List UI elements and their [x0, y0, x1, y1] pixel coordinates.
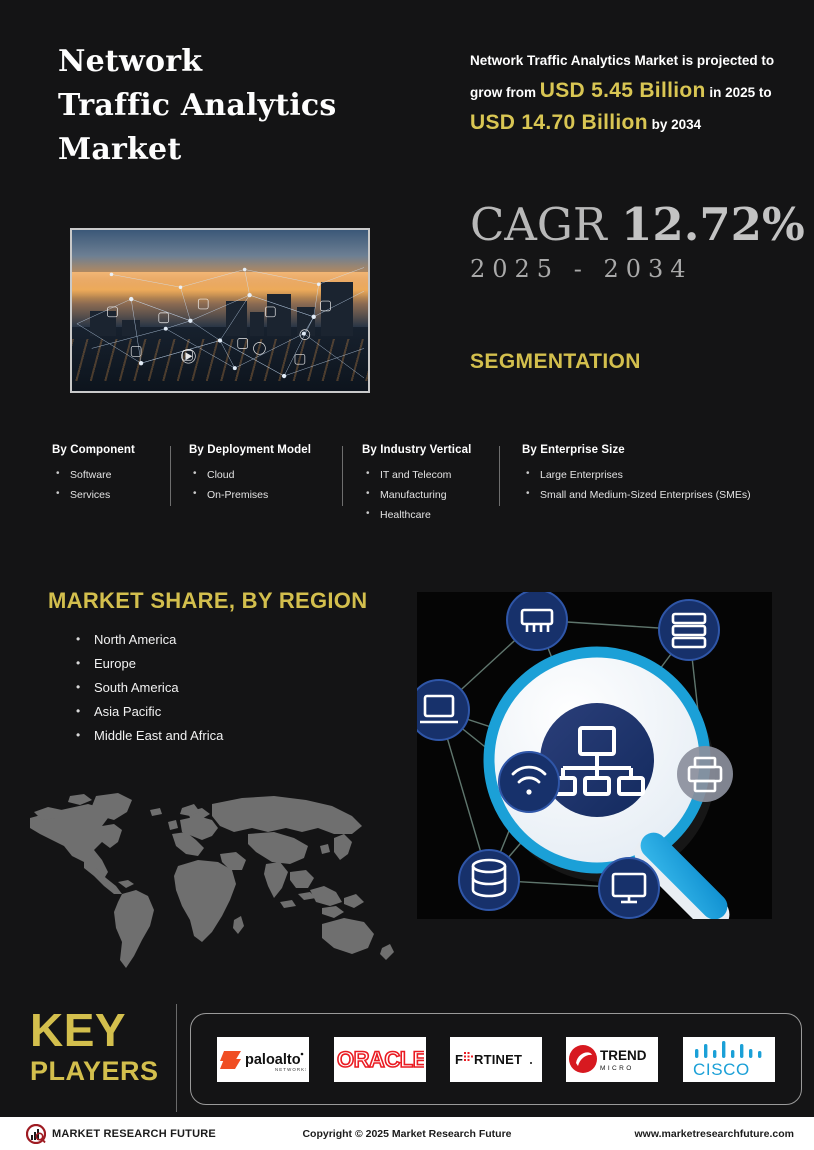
key-word: KEY: [30, 1006, 170, 1054]
projection-lead: Network Traffic Analytics Market is proj…: [470, 53, 774, 68]
region-item: South America: [72, 676, 223, 700]
segment-list: IT and Telecom Manufacturing Healthcare: [362, 465, 471, 525]
segment-column-industry: By Industry Vertical IT and Telecom Manu…: [362, 444, 471, 525]
segment-heading: By Enterprise Size: [522, 444, 751, 456]
oracle-logo[interactable]: ORACLE: [334, 1037, 426, 1082]
svg-text:TREND: TREND: [600, 1048, 647, 1063]
svg-text:NETWORKS: NETWORKS: [275, 1067, 306, 1072]
region-item: Middle East and Africa: [72, 724, 223, 748]
segment-divider: [342, 446, 343, 506]
key-players-logo-container: paloalto NETWORKS ORACLE F RTINET: [190, 1013, 802, 1105]
segment-item: Healthcare: [362, 505, 471, 525]
segment-column-deployment: By Deployment Model Cloud On-Premises: [189, 444, 311, 505]
page-title: Network Traffic Analytics Market: [58, 40, 438, 172]
projection-grow-from: grow from: [470, 85, 536, 100]
segment-heading: By Deployment Model: [189, 444, 311, 456]
svg-text:RTINET: RTINET: [474, 1052, 522, 1067]
hero-network-overlay: [72, 230, 368, 393]
title-line-3: Market: [58, 128, 438, 172]
segment-item: On-Premises: [189, 485, 311, 505]
svg-text:F: F: [455, 1052, 463, 1067]
paloalto-networks-logo[interactable]: paloalto NETWORKS: [217, 1037, 309, 1082]
segment-list: Large Enterprises Small and Medium-Sized…: [522, 465, 751, 505]
page-footer: MARKET RESEARCH FUTURE Copyright © 2025 …: [0, 1117, 814, 1150]
key-players-divider: [176, 1004, 177, 1112]
title-line-2: Traffic Analytics: [58, 84, 438, 128]
svg-text:MICRO: MICRO: [600, 1065, 634, 1072]
trend-micro-logo[interactable]: TREND MICRO: [566, 1037, 658, 1082]
cagr-label: CAGR: [470, 198, 607, 251]
projection-value-end: USD 14.70 Billion: [470, 111, 648, 134]
region-list: North America Europe South America Asia …: [72, 628, 223, 748]
world-map-svg: [22, 790, 404, 980]
segment-heading: By Component: [52, 444, 135, 456]
svg-text:paloalto: paloalto: [245, 1052, 301, 1068]
segment-divider: [170, 446, 171, 506]
fortinet-logo[interactable]: F RTINET: [450, 1037, 542, 1082]
svg-text:ORACLE: ORACLE: [337, 1047, 424, 1072]
city-network-image: [70, 228, 370, 393]
segment-item: Services: [52, 485, 135, 505]
segment-item: IT and Telecom: [362, 465, 471, 485]
footer-website: www.marketresearchfuture.com: [634, 1128, 794, 1140]
cagr-period: 2025 - 2034: [470, 255, 693, 283]
segment-item: Large Enterprises: [522, 465, 751, 485]
segment-item: Software: [52, 465, 135, 485]
projection-mid: in 2025 to: [709, 85, 771, 100]
world-map-image: [22, 790, 404, 980]
key-players-label: KEY PLAYERS: [30, 1006, 170, 1088]
segment-item: Manufacturing: [362, 485, 471, 505]
projection-value-start: USD 5.45 Billion: [540, 79, 706, 102]
cagr-value: 12.72%: [621, 198, 805, 251]
cagr-display: CAGR 12.72%: [470, 198, 805, 251]
market-projection-statement: Network Traffic Analytics Market is proj…: [470, 46, 790, 140]
svg-text:CISCO: CISCO: [693, 1060, 750, 1079]
segment-item: Small and Medium-Sized Enterprises (SMEs…: [522, 485, 751, 505]
segment-heading: By Industry Vertical: [362, 444, 471, 456]
segment-list: Software Services: [52, 465, 135, 505]
network-topology-image: [417, 592, 772, 919]
projection-tail: by 2034: [652, 117, 702, 132]
segmentation-section: By Component Software Services By Deploy…: [52, 444, 782, 530]
segment-column-component: By Component Software Services: [52, 444, 135, 505]
segment-item: Cloud: [189, 465, 311, 485]
segmentation-title: SEGMENTATION: [470, 350, 641, 374]
network-topology-svg: [417, 592, 772, 919]
market-share-heading: MARKET SHARE, BY REGION: [48, 588, 367, 614]
segment-divider: [499, 446, 500, 506]
segment-list: Cloud On-Premises: [189, 465, 311, 505]
infographic-page: Network Traffic Analytics Market Network…: [0, 0, 814, 1150]
title-line-1: Network: [58, 40, 438, 84]
region-item: Asia Pacific: [72, 700, 223, 724]
region-item: North America: [72, 628, 223, 652]
segment-column-enterprise: By Enterprise Size Large Enterprises Sma…: [522, 444, 751, 505]
region-item: Europe: [72, 652, 223, 676]
players-word: PLAYERS: [30, 1054, 170, 1088]
cisco-logo[interactable]: CISCO: [683, 1037, 775, 1082]
